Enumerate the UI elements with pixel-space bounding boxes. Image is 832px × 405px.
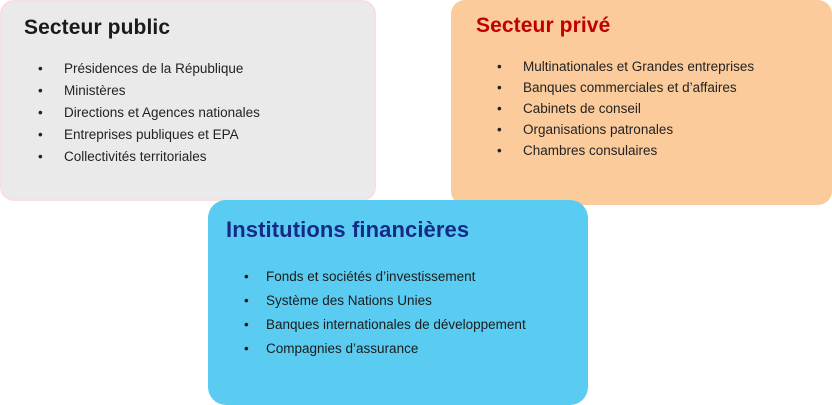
- list-item-label: Banques commerciales et d’affaires: [523, 80, 737, 95]
- bullet-list-secteur-prive: • Multinationales et Grandes entreprises…: [451, 56, 832, 161]
- bullet-icon: •: [497, 56, 502, 77]
- panel-title-secteur-public: Secteur public: [24, 16, 374, 40]
- bullet-list-institutions-financieres: • Fonds et sociétés d’investissement • S…: [208, 265, 588, 361]
- panel-title-institutions-financieres: Institutions financières: [226, 217, 588, 243]
- panel-secteur-public: Secteur public • Présidences de la Répub…: [0, 0, 376, 201]
- bullet-icon: •: [497, 77, 502, 98]
- list-item: • Présidences de la République: [2, 58, 374, 80]
- list-item: • Organisations patronales: [451, 119, 832, 140]
- list-item-label: Présidences de la République: [64, 61, 243, 76]
- bullet-icon: •: [244, 313, 249, 337]
- list-item: • Banques internationales de développeme…: [208, 313, 588, 337]
- list-item-label: Cabinets de conseil: [523, 101, 641, 116]
- list-item: • Banques commerciales et d’affaires: [451, 77, 832, 98]
- bullet-icon: •: [497, 119, 502, 140]
- bullet-icon: •: [497, 98, 502, 119]
- bullet-icon: •: [38, 58, 43, 80]
- list-item: • Collectivités territoriales: [2, 146, 374, 168]
- list-item: • Fonds et sociétés d’investissement: [208, 265, 588, 289]
- list-item-label: Organisations patronales: [523, 122, 673, 137]
- list-item-label: Compagnies d’assurance: [266, 341, 418, 356]
- list-item: • Système des Nations Unies: [208, 289, 588, 313]
- bullet-icon: •: [38, 146, 43, 168]
- list-item: • Multinationales et Grandes entreprises: [451, 56, 832, 77]
- list-item: • Entreprises publiques et EPA: [2, 124, 374, 146]
- panel-secteur-prive: Secteur privé • Multinationales et Grand…: [451, 0, 832, 205]
- list-item: • Compagnies d’assurance: [208, 337, 588, 361]
- bullet-icon: •: [38, 80, 43, 102]
- list-item-label: Ministères: [64, 83, 126, 98]
- list-item-label: Fonds et sociétés d’investissement: [266, 269, 475, 284]
- list-item: • Directions et Agences nationales: [2, 102, 374, 124]
- panel-institutions-financieres: Institutions financières • Fonds et soci…: [208, 200, 588, 405]
- list-item-label: Multinationales et Grandes entreprises: [523, 59, 754, 74]
- bullet-icon: •: [38, 102, 43, 124]
- list-item-label: Entreprises publiques et EPA: [64, 127, 239, 142]
- bullet-icon: •: [244, 265, 249, 289]
- bullet-list-secteur-public: • Présidences de la République • Ministè…: [2, 58, 374, 168]
- list-item: • Cabinets de conseil: [451, 98, 832, 119]
- list-item-label: Collectivités territoriales: [64, 149, 207, 164]
- list-item: • Chambres consulaires: [451, 140, 832, 161]
- list-item-label: Système des Nations Unies: [266, 293, 432, 308]
- bullet-icon: •: [244, 289, 249, 313]
- bullet-icon: •: [244, 337, 249, 361]
- list-item-label: Directions et Agences nationales: [64, 105, 260, 120]
- list-item-label: Chambres consulaires: [523, 143, 657, 158]
- bullet-icon: •: [38, 124, 43, 146]
- panel-title-secteur-prive: Secteur privé: [476, 14, 832, 38]
- list-item-label: Banques internationales de développement: [266, 317, 526, 332]
- list-item: • Ministères: [2, 80, 374, 102]
- bullet-icon: •: [497, 140, 502, 161]
